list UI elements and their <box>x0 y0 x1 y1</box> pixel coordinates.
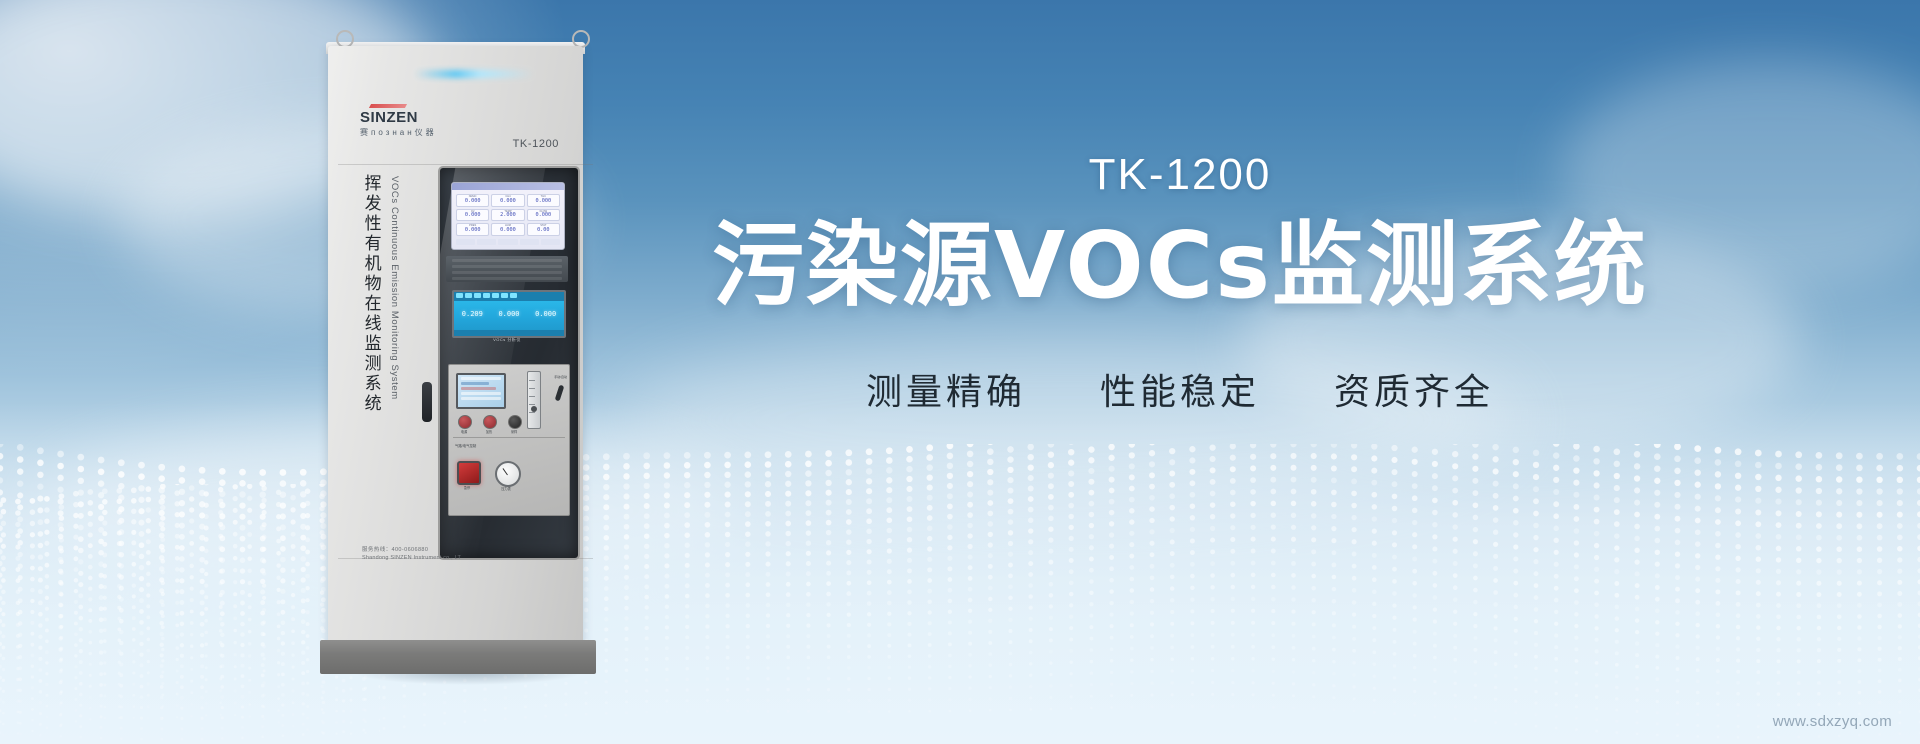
vertical-text-en: VOCs Continuous Emission Monitoring Syst… <box>389 176 400 400</box>
hmi-titlebar <box>452 183 564 190</box>
knob-label: 加热 <box>481 429 497 434</box>
heater-knob[interactable] <box>483 415 497 429</box>
hmi-readout-cell: PRES0.000 <box>456 223 489 236</box>
feature-item-2: 性能稳定 <box>1100 363 1260 415</box>
analyzer-caption: VOCs 分析仪 <box>470 338 544 342</box>
hmi-readout-grid: NMHC0.000CH40.000THC0.000O20.000TEMP2.00… <box>452 190 564 238</box>
feature-list: 测量精确性能稳定资质齐全 <box>660 363 1700 415</box>
feature-item-1: 测量精确 <box>866 363 1026 415</box>
knob-label: 采样 <box>506 429 522 434</box>
mini-lcd-screen <box>456 373 506 409</box>
hmi-readout-cell: CH40.000 <box>491 194 524 207</box>
pressure-gauge-icon <box>495 461 521 487</box>
brand-name: SINZEN <box>360 110 438 125</box>
cabinet-footer-label: 服务热线：400-0606880 Shandong SINZEN Instrum… <box>362 546 552 563</box>
sampling-knob[interactable] <box>508 415 522 429</box>
banner-title: 污染源VOCs监测系统 <box>660 216 1700 315</box>
hmi-readout-cell: THC0.000 <box>527 194 560 207</box>
hmi-readout-cell: O20.000 <box>456 209 489 222</box>
cabinet-vertical-text: 挥发性有机物在线监测系统 VOCs Continuous Emission Mo… <box>358 174 400 414</box>
lcd-status-icons <box>454 292 564 301</box>
flowmeter-icon <box>527 371 541 429</box>
lcd-value: 0.209 <box>462 310 483 318</box>
hmi-touchscreen[interactable]: NMHC0.000CH40.000THC0.000O20.000TEMP2.00… <box>451 182 565 250</box>
product-banner: SINZEN 赛познан仪器 TK-1200 挥发性有机物在线监测系统 VO… <box>0 0 1920 744</box>
company-name-en: Shandong SINZEN Instrument co., LT <box>362 554 552 562</box>
analyzer-lcd-display: 0.2090.0000.000 <box>452 290 566 338</box>
knob-label: 电源 <box>456 429 472 434</box>
cabinet-body: SINZEN 赛познан仪器 TK-1200 挥发性有机物在线监测系统 VO… <box>328 46 583 648</box>
cabinet-door-window: NMHC0.000CH40.000THC0.000O20.000TEMP2.00… <box>438 166 580 560</box>
vertical-text-cn: 挥发性有机物在线监测系统 <box>358 174 383 414</box>
panel-divider <box>453 437 565 438</box>
hmi-readout-cell: TEMP2.000 <box>491 209 524 222</box>
gauge-label: 压力表 <box>489 486 523 491</box>
lcd-value: 0.000 <box>535 310 556 318</box>
cabinet-base <box>320 640 596 674</box>
switch-label: 手动/自动 <box>554 375 567 379</box>
lcd-footer <box>454 330 564 336</box>
cabinet-highlight <box>414 70 534 78</box>
estop-label: 急停 <box>453 485 481 490</box>
toggle-switch[interactable] <box>555 385 565 402</box>
hmi-readout-cell: FLOW0.000 <box>527 209 560 222</box>
power-knob[interactable] <box>458 415 472 429</box>
lcd-values: 0.2090.0000.000 <box>454 301 564 318</box>
feature-item-3: 资质齐全 <box>1334 363 1494 415</box>
door-handle[interactable] <box>422 382 432 422</box>
hmi-readout-cell: HUM0.000 <box>491 223 524 236</box>
hmi-readout-cell: NMHC0.000 <box>456 194 489 207</box>
instrument-rack <box>446 256 568 282</box>
brand-logo: SINZEN 赛познан仪器 <box>360 104 438 138</box>
lcd-value: 0.000 <box>498 310 519 318</box>
hmi-readout-cell: STAT0.00 <box>527 223 560 236</box>
brand-name-cn: 赛познан仪器 <box>360 127 438 138</box>
service-hotline: 服务热线：400-0606880 <box>362 546 552 554</box>
product-model: TK-1200 <box>660 150 1700 200</box>
control-panel: 手动/自动 电源 加热 采样 气路/电气控制 急停 压力表 <box>448 364 570 516</box>
product-cabinet: SINZEN 赛познан仪器 TK-1200 挥发性有机物在线监测系统 VO… <box>318 22 608 682</box>
banner-copy: TK-1200 污染源VOCs监测系统 测量精确性能稳定资质齐全 <box>660 150 1700 415</box>
panel-seam <box>338 164 593 165</box>
site-watermark: www.sdxzyq.com <box>1773 713 1892 730</box>
logo-mark-icon <box>369 104 407 108</box>
cabinet-model-tag: TK-1200 <box>513 138 559 150</box>
emergency-stop-button[interactable] <box>457 461 481 485</box>
panel-section-label: 气路/电气控制 <box>455 443 476 448</box>
hmi-button-row <box>452 238 564 246</box>
